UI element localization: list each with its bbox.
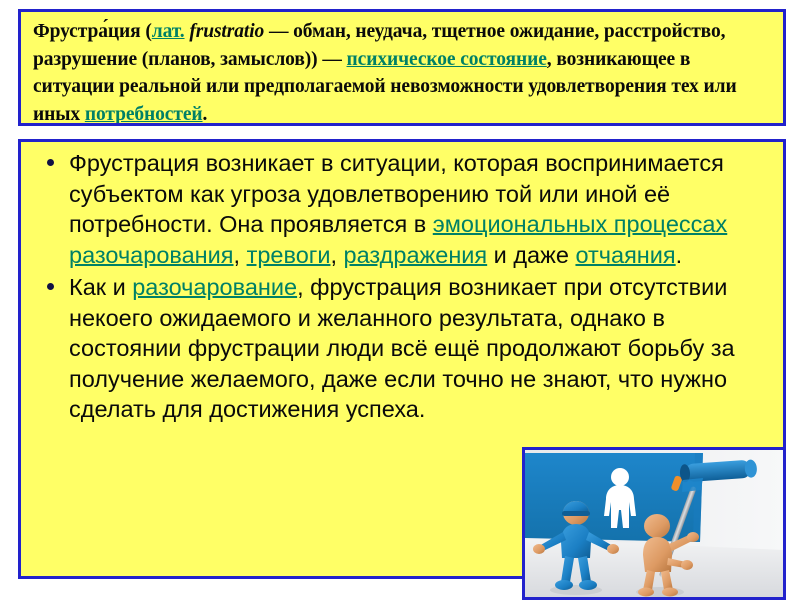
figure-orange-hand-upper xyxy=(687,532,699,542)
bullet-dot-icon xyxy=(47,283,54,290)
figure-blue-hand-left xyxy=(533,544,545,554)
bullet1-sep2: , xyxy=(234,242,247,268)
bullet-item-1: Фрустрация возникает в ситуации, которая… xyxy=(31,148,775,270)
figure-blue-visor xyxy=(562,511,590,516)
link-psychic-state[interactable]: психическое состояние xyxy=(347,49,547,70)
bullet-dot-icon xyxy=(47,159,54,166)
link-disappointment-2[interactable]: разочарование xyxy=(132,274,297,300)
slide-root: Фрустра́ция (лат. frustratio — обман, не… xyxy=(0,0,800,600)
bullet1-end: . xyxy=(676,242,683,268)
definition-term: Фрустра́ция xyxy=(33,21,141,42)
bullet-item-2: Как и разочарование, фрустрация возникае… xyxy=(31,272,775,425)
link-emotional-processes[interactable]: эмоциональных процессах xyxy=(433,211,727,237)
painters-illustration xyxy=(522,447,786,600)
definition-latin-word: frustratio xyxy=(189,21,264,42)
link-needs[interactable]: потребностей xyxy=(85,104,203,125)
definition-open-paren: ( xyxy=(141,21,152,42)
figure-blue-foot-left xyxy=(555,580,573,590)
bullet2-part1: Как и xyxy=(69,274,132,300)
link-lat[interactable]: лат. xyxy=(152,21,185,42)
link-anxiety[interactable]: тревоги xyxy=(247,242,331,268)
figure-blue-hand-right xyxy=(607,544,619,554)
bullet1-sep3: , xyxy=(330,242,343,268)
figure-blue-foot-right xyxy=(579,580,597,590)
definition-box: Фрустра́ция (лат. frustratio — обман, не… xyxy=(18,9,786,126)
figure-orange-head xyxy=(644,514,670,538)
link-despair[interactable]: отчаяния xyxy=(575,242,675,268)
figure-orange-torso xyxy=(643,537,672,572)
link-irritation[interactable]: раздражения xyxy=(344,242,488,268)
figure-blue-torso xyxy=(561,524,591,558)
definition-paragraph: Фрустра́ция (лат. frustratio — обман, не… xyxy=(33,18,773,126)
figure-orange-hand-lower xyxy=(681,560,693,570)
bullet-list: Фрустрация возникает в ситуации, которая… xyxy=(31,148,775,425)
figure-orange-foot-left xyxy=(638,588,654,597)
definition-end: . xyxy=(203,104,208,125)
fresh-paint-stroke xyxy=(682,478,703,492)
painters-illustration-graphic xyxy=(525,450,783,597)
bullet1-sep4: и даже xyxy=(487,242,575,268)
link-disappointment-1[interactable]: разочарования xyxy=(69,242,234,268)
figure-orange-foot-right xyxy=(662,588,678,597)
